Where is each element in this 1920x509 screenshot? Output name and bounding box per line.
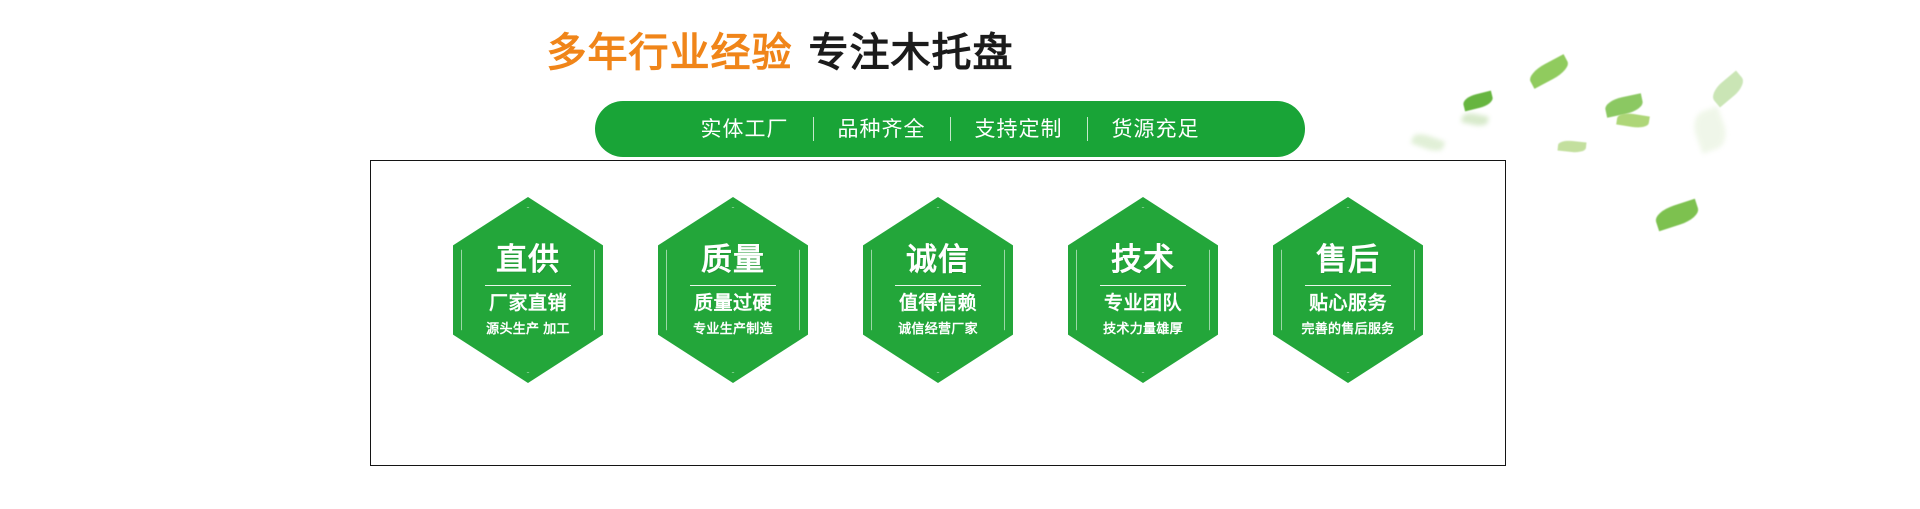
hexagon-content: 诚信 值得信赖 诚信经营厂家 (863, 244, 1013, 337)
hexagon-description: 技术力量雄厚 (1103, 322, 1183, 336)
hexagon-content: 技术 专业团队 技术力量雄厚 (1068, 244, 1218, 337)
page-title: 多年行业经验专注木托盘 (0, 33, 1560, 73)
hexagon-divider (690, 285, 776, 286)
pill-item-0[interactable]: 实体工厂 (677, 119, 813, 140)
hexagon-title: 诚信 (906, 244, 970, 277)
feature-hexagon-chengxin[interactable]: 诚信 值得信赖 诚信经营厂家 (863, 197, 1013, 383)
hexagon-description: 源头生产 加工 (486, 322, 570, 336)
leaf-icon (1604, 93, 1645, 118)
hexagon-subtitle: 厂家直销 (489, 294, 567, 315)
hexagon-title: 售后 (1316, 244, 1380, 277)
headline-highlight: 多年行业经验 (547, 31, 793, 75)
pill-item-1[interactable]: 品种齐全 (814, 119, 950, 140)
hexagon-content: 售后 贴心服务 完善的售后服务 (1273, 244, 1423, 337)
feature-hexagon-shouhou[interactable]: 售后 贴心服务 完善的售后服务 (1273, 197, 1423, 383)
hexagon-title: 质量 (701, 244, 765, 277)
feature-pill-bar: 实体工厂 品种齐全 支持定制 货源充足 (595, 101, 1305, 157)
hexagon-description: 完善的售后服务 (1301, 322, 1394, 336)
hexagon-title: 直供 (496, 244, 560, 277)
hexagon-content: 质量 质量过硬 专业生产制造 (658, 244, 808, 337)
pill-item-2[interactable]: 支持定制 (951, 119, 1087, 140)
hexagon-description: 诚信经营厂家 (898, 322, 978, 336)
leaf-icon (1411, 131, 1446, 154)
hexagon-divider (485, 285, 571, 286)
hexagon-divider (1305, 285, 1391, 286)
promo-banner: 多年行业经验专注木托盘 实体工厂 品种齐全 支持定制 货源充足 直供 厂家直销 … (0, 0, 1920, 509)
hexagon-subtitle: 贴心服务 (1309, 294, 1387, 315)
leaf-icon (1689, 106, 1731, 154)
leaf-icon (1462, 91, 1494, 112)
feature-hexagon-zhiliang[interactable]: 质量 质量过硬 专业生产制造 (658, 197, 808, 383)
feature-hexagon-row: 直供 厂家直销 源头生产 加工 质量 质量过硬 专业生产制造 诚信 值得信赖 诚… (370, 197, 1506, 397)
hexagon-subtitle: 值得信赖 (899, 294, 977, 315)
hexagon-divider (895, 285, 981, 286)
leaf-icon (1708, 71, 1747, 108)
hexagon-description: 专业生产制造 (693, 322, 773, 336)
leaf-icon (1461, 111, 1489, 127)
pill-item-3[interactable]: 货源充足 (1088, 119, 1224, 140)
headline-rest: 专注木托盘 (809, 31, 1014, 75)
leaf-icon (1653, 199, 1701, 232)
leaf-icon (1558, 140, 1587, 154)
feature-hexagon-jishu[interactable]: 技术 专业团队 技术力量雄厚 (1068, 197, 1218, 383)
hexagon-subtitle: 质量过硬 (694, 294, 772, 315)
hexagon-divider (1100, 285, 1186, 286)
hexagon-title: 技术 (1111, 244, 1175, 277)
leaf-icon (1616, 112, 1650, 130)
hexagon-subtitle: 专业团队 (1104, 294, 1182, 315)
feature-hexagon-zhigong[interactable]: 直供 厂家直销 源头生产 加工 (453, 197, 603, 383)
hexagon-content: 直供 厂家直销 源头生产 加工 (453, 244, 603, 337)
